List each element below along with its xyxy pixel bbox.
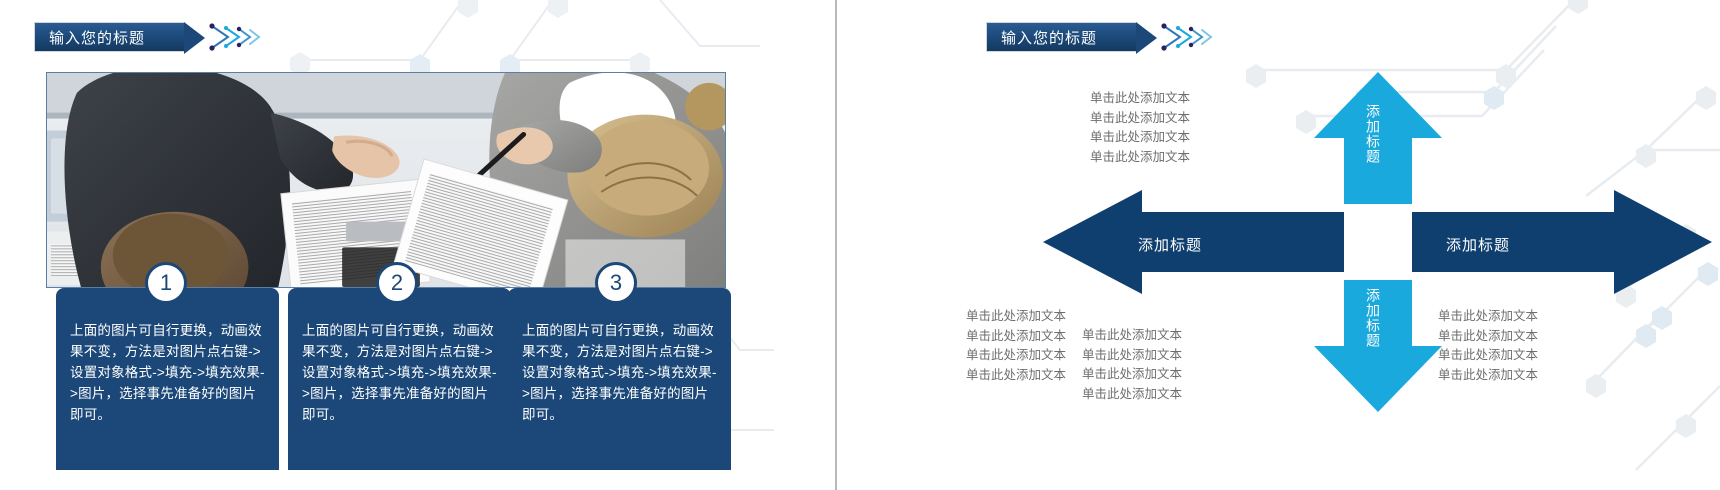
step-number-circle-1: 1 — [145, 262, 187, 304]
bullet-line: 单击此处添加文本 — [966, 366, 1066, 386]
bullet-line: 单击此处添加文本 — [1090, 148, 1190, 168]
bullet-block-bottom-left-outer[interactable]: 单击此处添加文本 单击此处添加文本 单击此处添加文本 单击此处添加文本 — [966, 307, 1066, 385]
bullet-line: 单击此处添加文本 — [1090, 89, 1190, 109]
bullet-line: 单击此处添加文本 — [1090, 128, 1190, 148]
slide-gutter — [774, 0, 946, 490]
slide-divider-line — [835, 0, 837, 490]
bullet-line: 单击此处添加文本 — [966, 327, 1066, 347]
bullet-line: 单击此处添加文本 — [966, 307, 1066, 327]
bullet-line: 单击此处添加文本 — [1438, 307, 1538, 327]
arrow-up-label: 添加标题 — [1364, 104, 1381, 182]
slide-photo-three-columns[interactable]: 输入您的标题 — [0, 0, 774, 490]
bullet-line: 单击此处添加文本 — [1438, 346, 1538, 366]
page-title: 输入您的标题 — [1001, 27, 1097, 48]
slide-title-banner: 输入您的标题 — [34, 22, 244, 52]
bullet-line: 单击此处添加文本 — [1438, 366, 1538, 386]
bullet-block-bottom-left-inner[interactable]: 单击此处添加文本 单击此处添加文本 单击此处添加文本 单击此处添加文本 — [1082, 326, 1182, 404]
arrow-left-label: 添加标题 — [1138, 234, 1202, 255]
bullet-line: 单击此处添加文本 — [1082, 385, 1182, 405]
step-textbox-3[interactable]: 上面的图片可自行更换，动画效果不变，方法是对图片点右键->设置对象格式->填充-… — [508, 288, 731, 470]
step-number-circle-2: 2 — [376, 262, 418, 304]
bullet-line: 单击此处添加文本 — [1090, 109, 1190, 129]
chevron-arrows-decoration — [208, 22, 268, 52]
bullet-line: 单击此处添加文本 — [1082, 346, 1182, 366]
step-textbox-1[interactable]: 上面的图片可自行更换，动画效果不变，方法是对图片点右键->设置对象格式->填充-… — [56, 288, 279, 470]
step-textbox-2[interactable]: 上面的图片可自行更换，动画效果不变，方法是对图片点右键->设置对象格式->填充-… — [288, 288, 511, 470]
bullet-line: 单击此处添加文本 — [1082, 365, 1182, 385]
slide-deck-thumbnail-strip: 输入您的标题 — [0, 0, 1720, 490]
bullet-block-bottom-right[interactable]: 单击此处添加文本 单击此处添加文本 单击此处添加文本 单击此处添加文本 — [1438, 307, 1538, 385]
step-number-circle-3: 3 — [595, 262, 637, 304]
arrow-down-label: 添加标题 — [1364, 288, 1381, 366]
bullet-block-top-left[interactable]: 单击此处添加文本 单击此处添加文本 单击此处添加文本 单击此处添加文本 — [1090, 89, 1190, 167]
title-banner-shape: 输入您的标题 — [34, 22, 184, 52]
bullet-line: 单击此处添加文本 — [966, 346, 1066, 366]
page-title: 输入您的标题 — [49, 27, 145, 48]
arrow-right-label: 添加标题 — [1446, 234, 1510, 255]
cross-arrow-diagram — [946, 0, 1720, 490]
meeting-photo[interactable] — [46, 72, 726, 288]
bullet-line: 单击此处添加文本 — [1438, 327, 1538, 347]
slide-cross-arrows[interactable]: 输入您的标题 — [946, 0, 1720, 490]
bullet-line: 单击此处添加文本 — [1082, 326, 1182, 346]
